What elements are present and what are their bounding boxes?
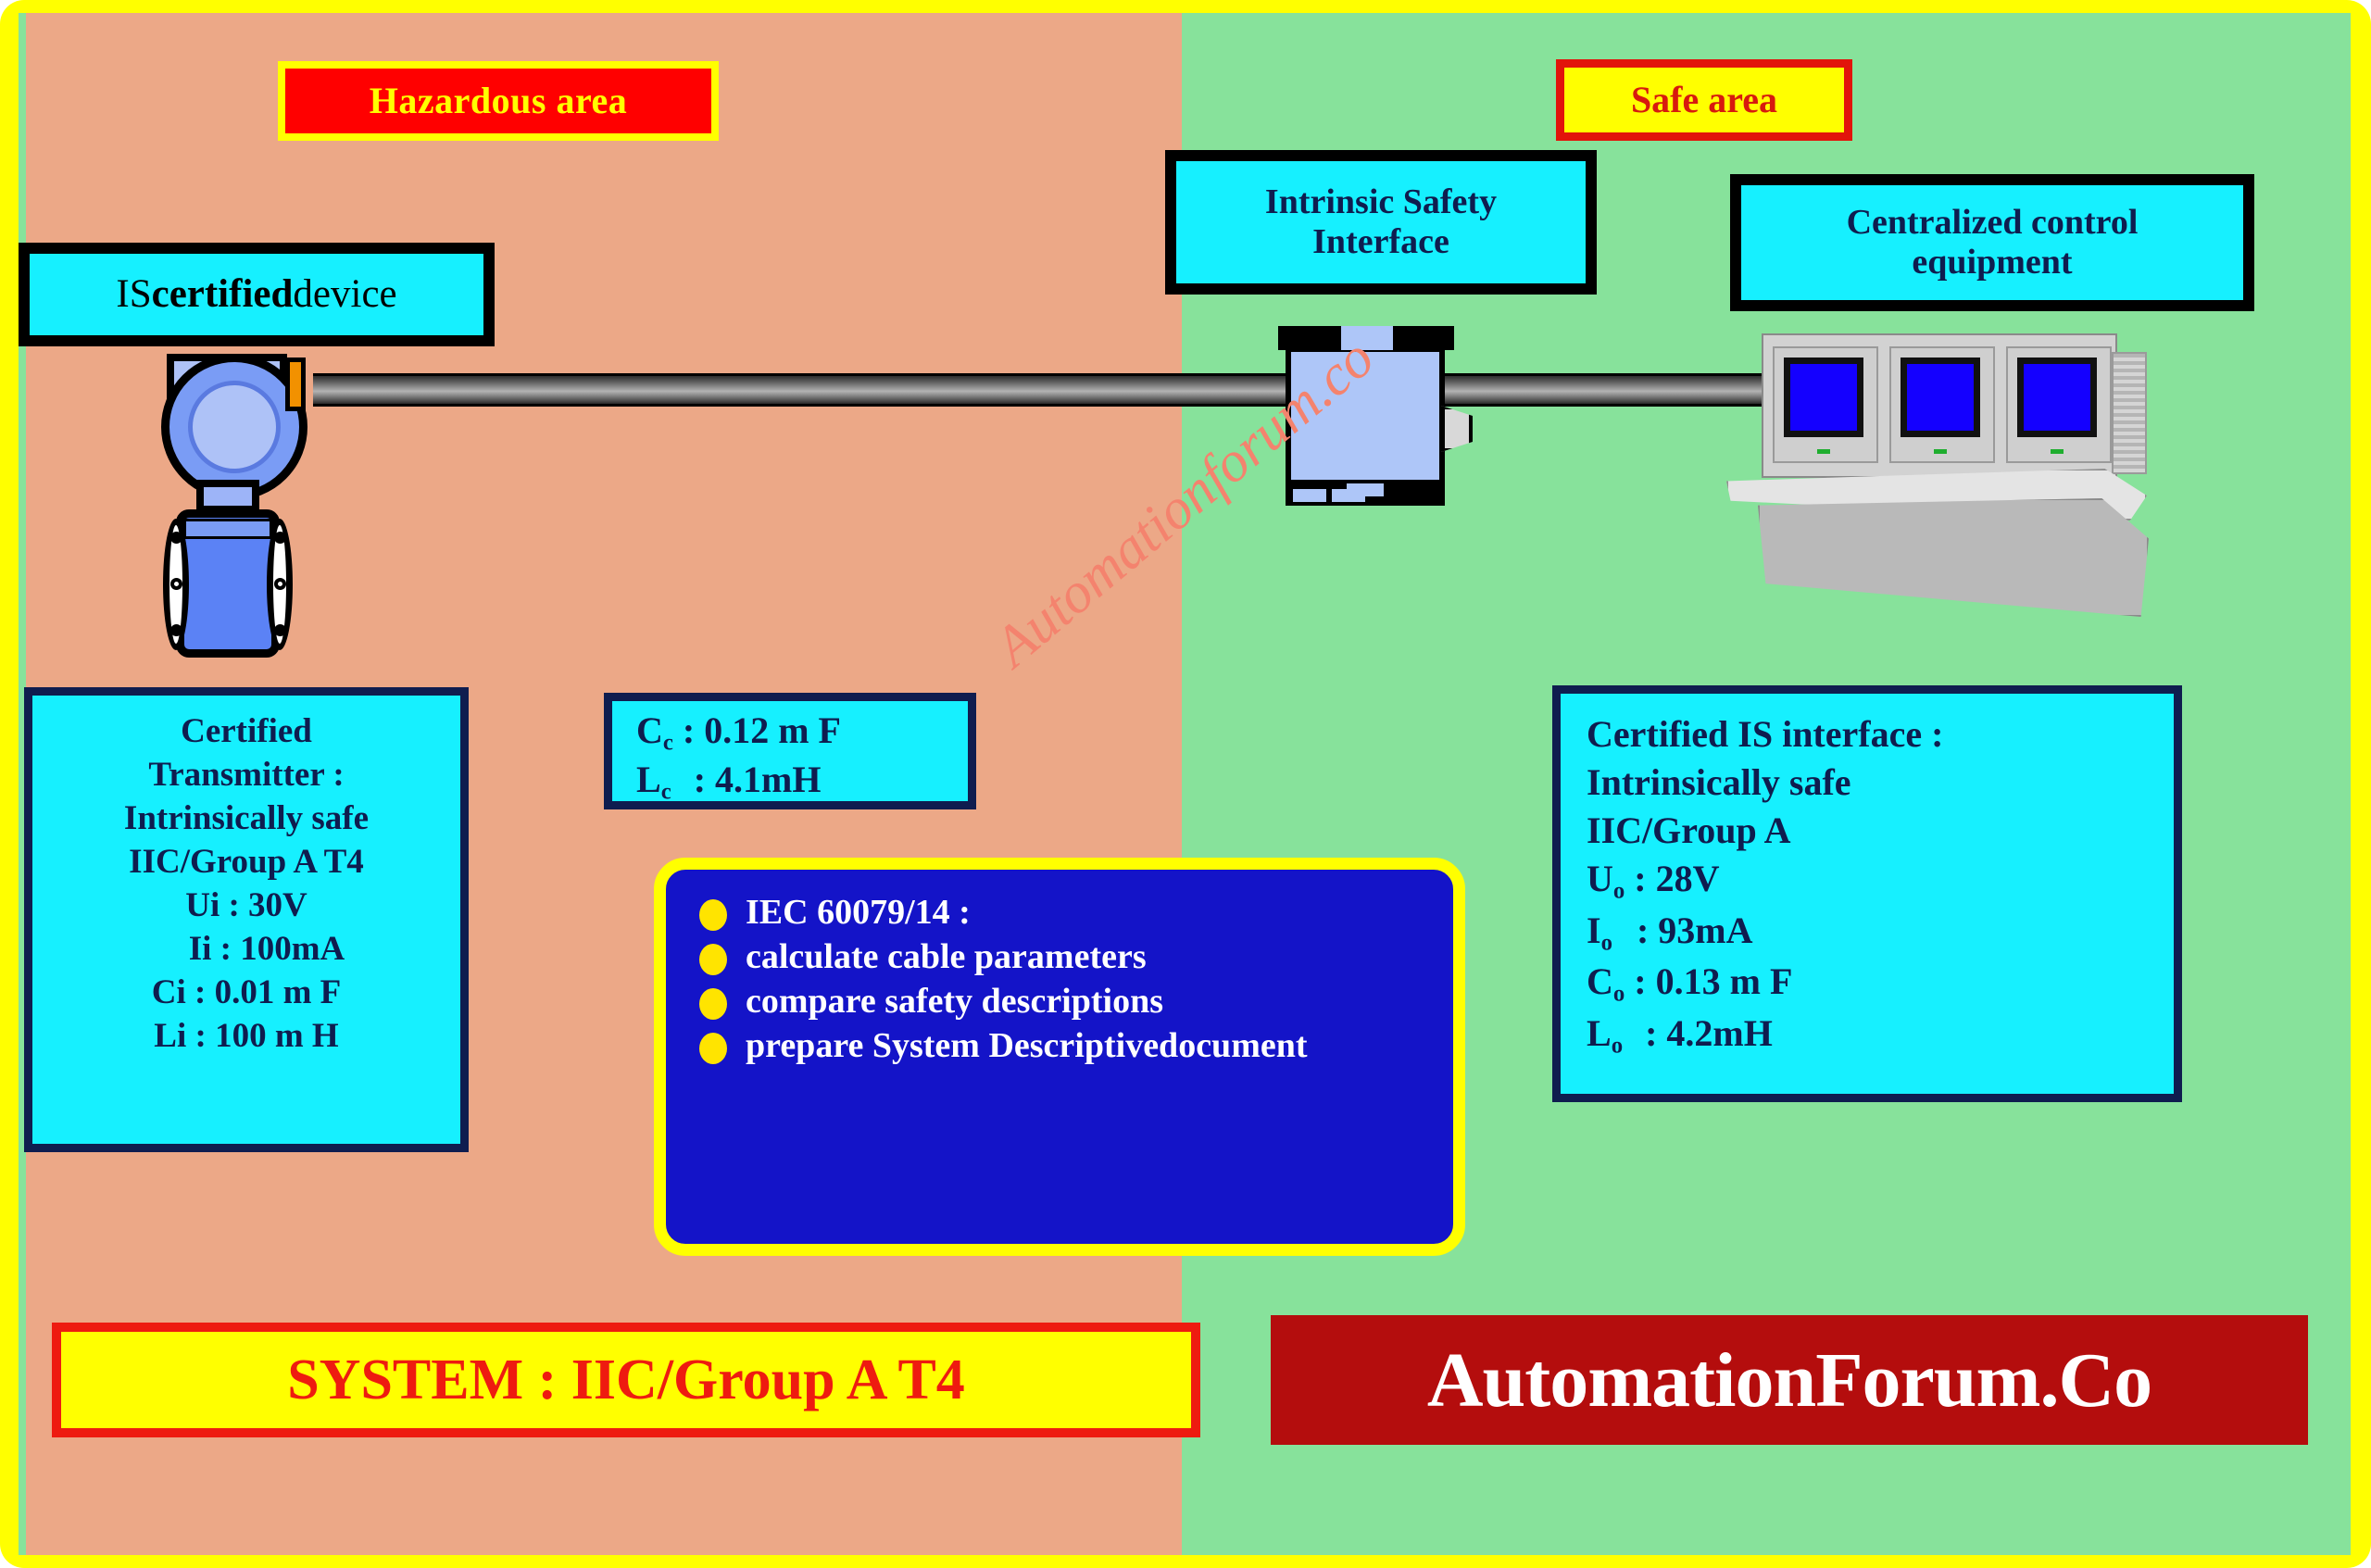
field-signal-cable <box>313 373 1878 407</box>
interface-lo-value: : 4.2mH <box>1632 1012 1773 1054</box>
intrinsic-safety-interface-label: Intrinsic Safety Interface <box>1165 150 1597 295</box>
interface-param-lo: Lo : 4.2mH <box>1587 1010 2174 1061</box>
is-device-prefix: IS <box>116 272 151 317</box>
cable-parameters-box: Cc : 0.12 m F Lc : 4.1mH <box>604 693 976 809</box>
system-classification-banner: SYSTEM : IIC/Group A T4 <box>52 1323 1200 1437</box>
transmitter-param-li: Li : 100 m H <box>32 1015 460 1059</box>
control-label-line1: Centralized control <box>1847 203 2139 243</box>
monitor-power-led <box>1817 449 1830 454</box>
note-text: prepare System Descriptivedocument <box>746 1025 1436 1066</box>
interface-protection: Intrinsically safe <box>1587 759 2174 807</box>
interface-uo-symbol: U <box>1587 858 1613 899</box>
bullet-icon <box>699 988 727 1020</box>
transmitter-title-line2: Transmitter : <box>32 754 460 797</box>
is-barrier-module-icon <box>1278 326 1454 508</box>
transmitter-conduit-insert <box>290 362 301 407</box>
cable-inductance-value: : 4.1mH <box>681 759 822 800</box>
diagram-frame: Hazardous area Safe area IS certified de… <box>0 0 2371 1568</box>
certified-transmitter-parameters: Certified Transmitter : Intrinsically sa… <box>24 687 469 1152</box>
module-foot <box>1332 489 1365 502</box>
interface-co-symbol: C <box>1587 960 1613 1002</box>
cable-capacitance-subscript: c <box>663 730 673 755</box>
barrier-label-line1: Intrinsic Safety <box>1265 182 1497 222</box>
note-item: prepare System Descriptivedocument <box>688 1025 1436 1066</box>
cable-inductance-subscript: c <box>661 779 671 804</box>
transmitter-param-ui: Ui : 30V <box>32 884 460 928</box>
flange-bolt <box>170 578 182 590</box>
interface-param-co: Co : 0.13 m F <box>1587 958 2174 1010</box>
console-monitor <box>1773 346 1878 463</box>
cable-capacitance-row: Cc : 0.12 m F <box>636 709 968 758</box>
transmitter-gas-group: IIC/Group A T4 <box>32 841 460 884</box>
module-top-notch <box>1341 326 1393 350</box>
interface-param-uo: Uo : 28V <box>1587 855 2174 907</box>
safe-area-label: Safe area <box>1556 59 1852 141</box>
is-device-emphasis: certified <box>152 272 294 317</box>
bullet-icon <box>699 899 727 931</box>
certified-is-interface-parameters: Certified IS interface : Intrinsically s… <box>1552 685 2182 1102</box>
monitor-screen <box>2017 358 2097 437</box>
brand-logo-banner: AutomationForum.Co <box>1271 1315 2308 1445</box>
control-console-icon <box>1719 333 2173 621</box>
note-item: IEC 60079/14 : <box>688 892 1436 933</box>
module-foot <box>1293 489 1326 502</box>
bullet-icon <box>699 1033 727 1064</box>
flange-bolt <box>274 532 286 544</box>
console-monitor <box>2006 346 2112 463</box>
cable-capacitance-value: : 0.12 m F <box>683 709 841 751</box>
barrier-label-line2: Interface <box>1312 222 1449 262</box>
iec-60079-14-notes: IEC 60079/14 : calculate cable parameter… <box>654 858 1465 1256</box>
interface-co-subscript: o <box>1613 982 1625 1007</box>
transmitter-param-ii: Ii : 100mA <box>32 928 460 972</box>
monitor-screen <box>1784 358 1863 437</box>
cable-inductance-row: Lc : 4.1mH <box>636 758 968 807</box>
interface-param-io: Io : 93mA <box>1587 907 2174 959</box>
note-text: compare safety descriptions <box>746 981 1436 1022</box>
flange-bolt <box>170 624 182 636</box>
centralized-control-equipment-label: Centralized control equipment <box>1730 174 2254 311</box>
is-certified-device-label: IS certified device <box>19 243 495 346</box>
transmitter-band <box>183 519 272 539</box>
transmitter-protection: Intrinsically safe <box>32 797 460 841</box>
transmitter-title-line1: Certified <box>32 710 460 754</box>
note-text: calculate cable parameters <box>746 936 1436 977</box>
console-side-panel <box>2112 352 2147 474</box>
interface-lo-subscript: o <box>1612 1033 1623 1058</box>
interface-io-subscript: o <box>1601 930 1612 955</box>
flange-bolt <box>274 624 286 636</box>
interface-uo-value: : 28V <box>1634 858 1719 899</box>
pressure-transmitter-icon <box>148 350 320 665</box>
module-body <box>1286 346 1445 485</box>
transmitter-neck <box>196 480 259 513</box>
cable-capacitance-symbol: C <box>636 709 663 751</box>
transmitter-param-ci: Ci : 0.01 m F <box>32 972 460 1015</box>
interface-io-symbol: I <box>1587 909 1601 951</box>
monitor-power-led <box>2051 449 2064 454</box>
interface-lo-symbol: L <box>1587 1012 1612 1054</box>
interface-title: Certified IS interface : <box>1587 710 2174 759</box>
interface-io-value: : 93mA <box>1622 909 1753 951</box>
control-label-line2: equipment <box>1912 243 2072 282</box>
flange-bolt <box>274 578 286 590</box>
interface-gas-group: IIC/Group A <box>1587 807 2174 855</box>
monitor-power-led <box>1934 449 1947 454</box>
transmitter-face <box>188 381 281 473</box>
console-front-panel <box>1758 498 2149 617</box>
hazardous-area-label: Hazardous area <box>278 61 719 141</box>
interface-uo-subscript: o <box>1613 878 1625 903</box>
monitor-screen <box>1901 358 1980 437</box>
console-monitor <box>1889 346 1995 463</box>
interface-co-value: : 0.13 m F <box>1634 960 1792 1002</box>
note-item: calculate cable parameters <box>688 936 1436 977</box>
flange-bolt <box>170 532 182 544</box>
note-item: compare safety descriptions <box>688 981 1436 1022</box>
is-device-suffix: device <box>293 272 396 317</box>
cable-inductance-symbol: L <box>636 759 661 800</box>
note-text: IEC 60079/14 : <box>746 892 1436 933</box>
bullet-icon <box>699 944 727 975</box>
